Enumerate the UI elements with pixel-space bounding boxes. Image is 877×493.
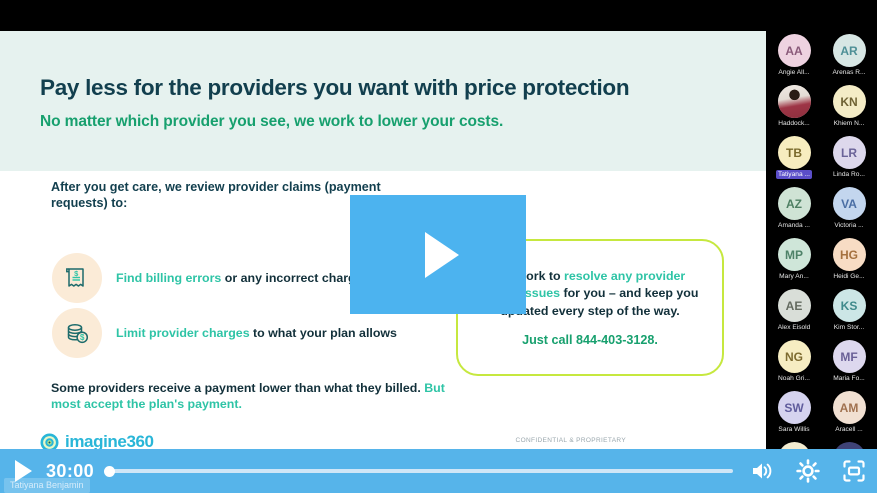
participant-name-label: Angie All...: [776, 68, 811, 77]
avatar-initials: LR: [841, 146, 857, 160]
avatar-initials: AM: [840, 401, 859, 415]
slide-subheadline: No matter which provider you see, we wor…: [40, 113, 503, 131]
coins-icon: $: [52, 308, 102, 358]
confidential-notice: CONFIDENTIAL & PROPRIETARY: [516, 437, 626, 444]
participant-tile[interactable]: AEAlex Eisold: [769, 289, 819, 337]
avatar-initials: AE: [786, 299, 803, 313]
participant-initials-avatar: AE: [778, 289, 811, 322]
participant-name-label: Amanda ...: [776, 221, 812, 230]
participant-tile[interactable]: AMAracell ...: [824, 391, 874, 439]
participant-tile[interactable]: HGHeidi Ge...: [824, 238, 874, 286]
svg-text:$: $: [80, 333, 85, 342]
callout-phone-cta: Just call 844-403-3128.: [522, 333, 658, 347]
participant-name-label: Maria Fo...: [831, 374, 867, 383]
participant-initials-avatar: MP: [778, 238, 811, 271]
avatar-initials: MP: [785, 248, 803, 262]
slide-headline: Pay less for the providers you want with…: [40, 75, 629, 101]
avatar-initials: SW: [784, 401, 803, 415]
participant-tile[interactable]: TBTatiyana ...: [769, 136, 819, 184]
avatar-initials: KS: [841, 299, 858, 313]
participant-name-label: Kim Stor...: [832, 323, 866, 332]
participant-tile[interactable]: NGNoah Gri...: [769, 340, 819, 388]
fullscreen-button[interactable]: [831, 449, 877, 493]
svg-text:$: $: [74, 269, 79, 278]
benefit-item-limit-charges: $ Limit provider charges to what your pl…: [52, 308, 397, 358]
slide-closing-text: Some providers receive a payment lower t…: [51, 380, 471, 412]
participant-tile[interactable]: SWSara Willis: [769, 391, 819, 439]
participant-name-label: Noah Gri...: [776, 374, 812, 383]
participant-grid: AAAngie All...ARArenas R...Haddock...KNK…: [766, 34, 877, 493]
closing-plain: Some providers receive a payment lower t…: [51, 381, 424, 395]
participant-initials-avatar: MF: [833, 340, 866, 373]
participant-tile[interactable]: AZAmanda ...: [769, 187, 819, 235]
participant-initials-avatar: KS: [833, 289, 866, 322]
participant-name-label: Arenas R...: [831, 68, 868, 77]
participant-name-label: Mary An...: [777, 272, 811, 281]
shared-screen-stage[interactable]: Pay less for the providers you want with…: [0, 31, 766, 493]
avatar-initials: AZ: [786, 197, 802, 211]
participant-initials-avatar: HG: [833, 238, 866, 271]
participant-initials-avatar: AA: [778, 34, 811, 67]
participant-tile[interactable]: KSKim Stor...: [824, 289, 874, 337]
participant-initials-avatar: NG: [778, 340, 811, 373]
participant-name-label: Aracell ...: [833, 425, 864, 434]
participant-tile[interactable]: AAAngie All...: [769, 34, 819, 82]
participant-name-label: Haddock...: [776, 119, 812, 128]
video-control-bar: 30:00: [0, 449, 877, 493]
active-speaker-name-tag: Tatiyana Benjamin: [4, 478, 90, 493]
participant-initials-avatar: AR: [833, 34, 866, 67]
avatar-initials: NG: [785, 350, 803, 364]
participant-name-label: Heidi Ge...: [831, 272, 866, 281]
participant-name-label: Alex Eisold: [776, 323, 813, 332]
participant-tile[interactable]: MFMaria Fo...: [824, 340, 874, 388]
play-triangle-icon: [425, 232, 459, 278]
participant-name-label: Tatiyana ...: [776, 170, 812, 179]
participant-initials-avatar: VA: [833, 187, 866, 220]
participant-initials-avatar: TB: [778, 136, 811, 169]
avatar-initials: AA: [785, 44, 802, 58]
avatar-initials: KN: [840, 95, 857, 109]
participant-sidebar[interactable]: AAAngie All...ARArenas R...Haddock...KNK…: [766, 31, 877, 493]
avatar-initials: HG: [840, 248, 858, 262]
fullscreen-icon: [842, 459, 866, 483]
participant-photo-avatar: [778, 85, 811, 118]
participant-initials-avatar: AZ: [778, 187, 811, 220]
participant-tile[interactable]: MPMary An...: [769, 238, 819, 286]
participant-tile[interactable]: Haddock...: [769, 85, 819, 133]
avatar-initials: MF: [840, 350, 857, 364]
video-play-overlay[interactable]: [350, 195, 526, 314]
participant-name-label: Khiem N...: [832, 119, 867, 128]
benefit-accent-1: Find billing errors: [116, 271, 221, 285]
benefit-item-text: Find billing errors or any incorrect cha…: [116, 271, 369, 285]
participant-tile[interactable]: LRLinda Ro...: [824, 136, 874, 184]
benefit-rest-1: or any incorrect charges: [221, 271, 369, 285]
participant-name-label: Victoria ...: [832, 221, 865, 230]
settings-gear-icon: [796, 459, 820, 483]
benefit-item-billing-errors: $ Find billing errors or any incorrect c…: [52, 253, 369, 303]
receipt-icon: $: [52, 253, 102, 303]
benefit-item-text: Limit provider charges to what your plan…: [116, 326, 397, 340]
avatar-initials: VA: [841, 197, 857, 211]
settings-button[interactable]: [785, 449, 831, 493]
participant-tile[interactable]: KNKhiem N...: [824, 85, 874, 133]
progress-handle[interactable]: [104, 466, 115, 477]
benefit-rest-2: to what your plan allows: [250, 326, 397, 340]
benefit-accent-2: Limit provider charges: [116, 326, 250, 340]
avatar-initials: TB: [786, 146, 802, 160]
video-player-window: Pay less for the providers you want with…: [0, 0, 877, 493]
participant-tile[interactable]: VAVictoria ...: [824, 187, 874, 235]
participant-name-label: Sara Willis: [776, 425, 811, 434]
participant-initials-avatar: LR: [833, 136, 866, 169]
volume-button[interactable]: [739, 449, 785, 493]
slide-lead-paragraph: After you get care, we review provider c…: [51, 180, 391, 212]
top-black-bar: [0, 0, 877, 31]
volume-icon: [750, 460, 774, 482]
progress-track: [110, 469, 733, 473]
progress-scrubber[interactable]: [102, 449, 733, 493]
participant-tile[interactable]: ARArenas R...: [824, 34, 874, 82]
participant-initials-avatar: SW: [778, 391, 811, 424]
participant-initials-avatar: AM: [833, 391, 866, 424]
participant-initials-avatar: KN: [833, 85, 866, 118]
avatar-initials: AR: [840, 44, 857, 58]
participant-name-label: Linda Ro...: [831, 170, 867, 179]
avatar-photo: [778, 85, 811, 118]
